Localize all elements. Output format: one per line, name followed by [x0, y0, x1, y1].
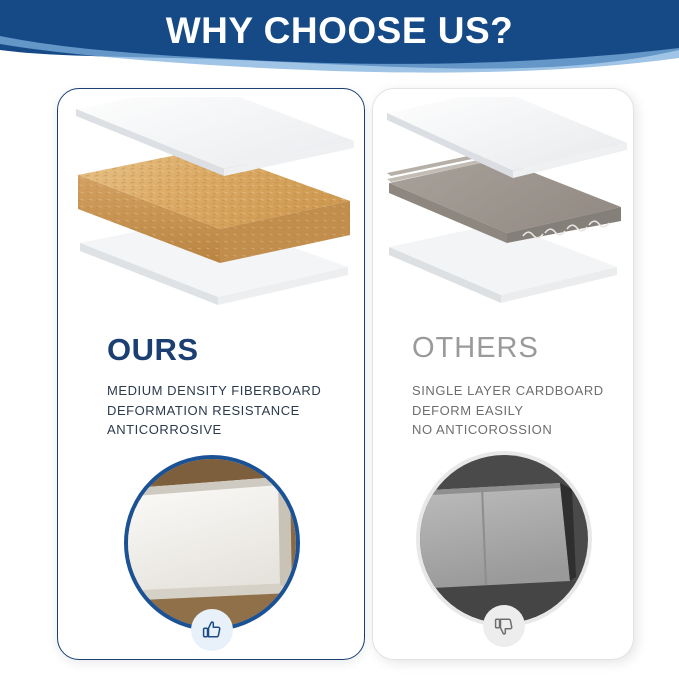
others-photo	[416, 451, 592, 627]
ours-feature-item: DEFORMATION RESISTANCE	[107, 401, 321, 421]
others-panel: OTHERS SINGLE LAYER CARDBOARD DEFORM EAS…	[372, 88, 634, 660]
ours-photo-circle	[124, 455, 300, 631]
others-feature-item: DEFORM EASILY	[412, 401, 604, 421]
ours-board-illustration	[58, 97, 364, 327]
others-board-illustration	[373, 97, 633, 327]
page-title: WHY CHOOSE US?	[0, 0, 679, 62]
ours-feature-item: ANTICORROSIVE	[107, 420, 321, 440]
comparison-section: OURS MEDIUM DENSITY FIBERBOARD DEFORMATI…	[0, 88, 679, 673]
ours-heading: OURS	[107, 332, 199, 368]
others-feature-list: SINGLE LAYER CARDBOARD DEFORM EASILY NO …	[412, 381, 604, 440]
ours-feature-item: MEDIUM DENSITY FIBERBOARD	[107, 381, 321, 401]
others-photo-circle	[416, 451, 592, 627]
others-heading: OTHERS	[412, 332, 539, 365]
ours-panel: OURS MEDIUM DENSITY FIBERBOARD DEFORMATI…	[57, 88, 365, 660]
thumbs-down-icon	[492, 614, 516, 638]
others-feature-item: SINGLE LAYER CARDBOARD	[412, 381, 604, 401]
others-feature-item: NO ANTICOROSSION	[412, 420, 604, 440]
thumbs-up-badge	[191, 609, 233, 651]
ours-feature-list: MEDIUM DENSITY FIBERBOARD DEFORMATION RE…	[107, 381, 321, 440]
thumbs-up-icon	[200, 618, 224, 642]
header-banner: WHY CHOOSE US?	[0, 0, 679, 82]
ours-photo	[124, 455, 300, 631]
thumbs-down-badge	[483, 605, 525, 647]
